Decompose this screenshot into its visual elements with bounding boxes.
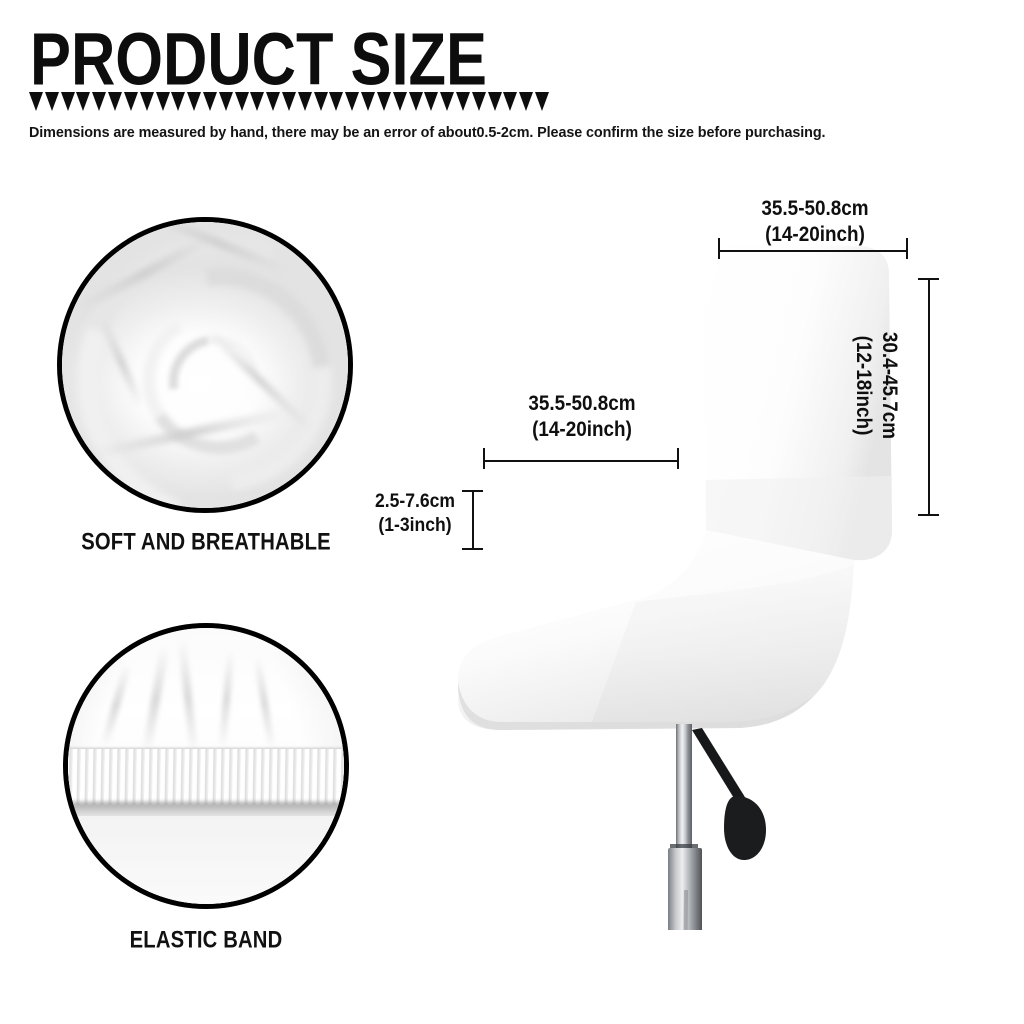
- triangle-marker: [472, 92, 486, 111]
- triangle-marker: [377, 92, 391, 111]
- elastic-lower-fabric: [68, 816, 344, 904]
- dimension-backrest-height-cm: 30.4-45.7cm: [876, 300, 902, 471]
- dimension-tick-backrest-width-right: [906, 238, 908, 259]
- triangle-marker: [219, 92, 233, 111]
- triangle-marker: [361, 92, 375, 111]
- triangle-marker: [440, 92, 454, 111]
- triangle-marker: [203, 92, 217, 111]
- dimension-seat-width-cm: 35.5-50.8cm: [479, 391, 686, 417]
- triangle-marker: [250, 92, 264, 111]
- feature-caption-elastic-band: ELASTIC BAND: [25, 925, 388, 954]
- triangle-marker: [314, 92, 328, 111]
- triangle-marker: [456, 92, 470, 111]
- dimension-label-seat-thickness: 2.5-7.6cm (1-3inch): [358, 489, 471, 537]
- triangle-marker: [140, 92, 154, 111]
- dimension-line-backrest-height: [928, 278, 930, 516]
- triangle-marker: [393, 92, 407, 111]
- feature-image-elastic-band: [63, 623, 349, 909]
- elastic-band-ribs: [68, 749, 344, 804]
- dimension-tick-backrest-height-bottom: [918, 514, 939, 516]
- feature-caption-soft-breathable: SOFT AND BREATHABLE: [25, 527, 388, 556]
- feature-image-soft-breathable: [57, 217, 353, 513]
- dimension-seat-thickness-cm: 2.5-7.6cm: [358, 489, 471, 513]
- triangle-marker: [345, 92, 359, 111]
- triangle-marker: [61, 92, 75, 111]
- triangle-marker: [171, 92, 185, 111]
- dimension-label-backrest-width: 35.5-50.8cm (14-20inch): [712, 196, 919, 248]
- dimension-seat-width-inch: (14-20inch): [479, 417, 686, 443]
- dimension-tick-seat-width-right: [677, 448, 679, 469]
- triangle-marker: [45, 92, 59, 111]
- fabric-swirl-photo: [62, 222, 348, 508]
- dimension-line-seat-thickness: [472, 490, 474, 550]
- triangle-marker: [329, 92, 343, 111]
- dimension-tick-seat-thickness-bottom: [462, 548, 483, 550]
- triangle-marker: [535, 92, 549, 111]
- triangle-marker: [519, 92, 533, 111]
- dimension-seat-thickness-inch: (1-3inch): [358, 513, 471, 537]
- dimension-tick-backrest-width-left: [718, 238, 720, 259]
- product-chair-illustration: [440, 230, 920, 930]
- triangle-marker: [187, 92, 201, 111]
- triangle-marker: [29, 92, 43, 111]
- chair-lever-handle: [724, 796, 766, 860]
- dimension-backrest-height-inch: (12-18inch): [850, 300, 876, 471]
- triangle-marker: [266, 92, 280, 111]
- dimension-tick-seat-thickness-top: [462, 490, 483, 492]
- elastic-band-strip: [68, 749, 344, 804]
- dimension-label-seat-width: 35.5-50.8cm (14-20inch): [479, 391, 686, 443]
- dimension-line-seat-width: [483, 460, 679, 462]
- triangle-marker: [92, 92, 106, 111]
- triangle-marker: [76, 92, 90, 111]
- page-title: PRODUCT SIZE: [30, 22, 487, 96]
- dimension-backrest-width-cm: 35.5-50.8cm: [712, 196, 919, 222]
- chair-gas-lift-rod: [676, 724, 692, 852]
- triangle-marker: [488, 92, 502, 111]
- triangle-marker: [108, 92, 122, 111]
- triangle-marker: [424, 92, 438, 111]
- triangle-marker: [503, 92, 517, 111]
- triangle-marker: [124, 92, 138, 111]
- measurement-disclaimer: Dimensions are measured by hand, there m…: [29, 124, 825, 142]
- triangle-marker: [282, 92, 296, 111]
- dimension-line-backrest-width: [718, 250, 908, 252]
- triangle-marker: [298, 92, 312, 111]
- triangle-marker: [235, 92, 249, 111]
- dimension-tick-seat-width-left: [483, 448, 485, 469]
- triangle-divider: [29, 92, 549, 112]
- chair-height-adjust-lever: [692, 728, 748, 808]
- triangle-marker: [409, 92, 423, 111]
- elastic-band-photo: [68, 628, 344, 904]
- triangle-marker: [156, 92, 170, 111]
- dimension-label-backrest-height: 30.4-45.7cm (12-18inch): [850, 300, 902, 471]
- dimension-tick-backrest-height-top: [918, 278, 939, 280]
- dimension-backrest-width-inch: (14-20inch): [712, 222, 919, 248]
